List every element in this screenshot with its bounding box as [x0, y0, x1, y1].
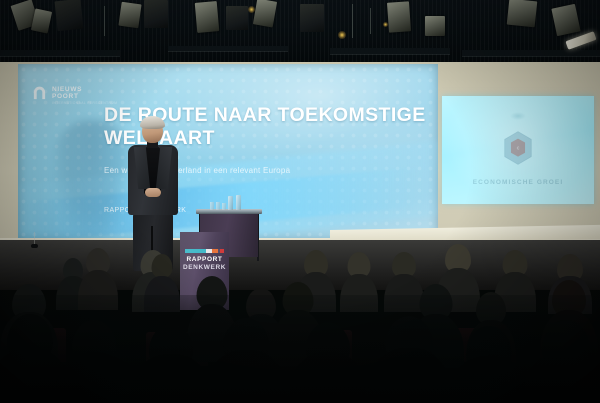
lectern: RAPPORT DENKWERK [180, 232, 229, 310]
head [72, 320, 116, 368]
hexagon-badge-icon: € [502, 130, 534, 166]
head [223, 318, 269, 368]
lectern-sheen [180, 232, 229, 310]
chair-back-3 [290, 330, 352, 364]
speaker-legs [133, 213, 173, 271]
audience-person-r3-6 [368, 316, 450, 403]
truss-bar-1 [0, 50, 120, 56]
amber-indicator-2 [338, 31, 346, 39]
svg-text:€: € [517, 146, 520, 151]
head [7, 314, 53, 364]
chair-back-1 [6, 328, 66, 362]
head [542, 320, 590, 372]
audience-person-r2-3 [236, 288, 286, 366]
truss-bar-2 [168, 46, 288, 51]
shoulders [236, 314, 286, 366]
shoulders [408, 314, 464, 368]
chair-back-4 [430, 328, 496, 362]
water-bottle-1 [228, 196, 233, 210]
rig-cable-2 [352, 4, 353, 38]
shoulders [0, 348, 70, 403]
audience-person-r2-4 [272, 282, 324, 366]
stage-light-12 [507, 0, 538, 27]
speaker-hands [145, 188, 161, 197]
shoulders [290, 352, 366, 403]
truss-bar-4 [462, 50, 600, 56]
head [149, 324, 193, 372]
audience-person-r2-5 [408, 284, 464, 368]
audience-person-r3-1 [0, 314, 70, 403]
speaker-leg-split [151, 226, 153, 271]
floor-mic-head [31, 244, 38, 248]
shoulders [466, 320, 516, 370]
nieuwspoort-logo: NIEUWS POORT INTERNATIONAAL PERSCENTRUM [32, 86, 117, 105]
stage-light-4 [118, 2, 141, 29]
audience-person-r3-2 [56, 320, 132, 403]
audience-person-r3-4 [206, 318, 286, 403]
stage-light-10 [387, 1, 411, 32]
truss-bar-3 [330, 48, 450, 54]
side-screen-caption: ECONOMISCHE GROEI [442, 179, 594, 186]
shoulders [272, 310, 324, 366]
head [476, 292, 506, 325]
audience-person-r3-3 [132, 324, 210, 403]
drinking-glass-1 [210, 202, 214, 210]
speaker-hair [140, 116, 165, 129]
stage-light-7 [226, 6, 248, 30]
stage-light-3 [55, 0, 84, 31]
audience-person-r3-5 [290, 322, 366, 403]
audience-person-r2-6 [466, 292, 516, 370]
shoulders [540, 310, 598, 368]
speaker-figure [122, 118, 184, 268]
stage-light-6 [195, 1, 220, 33]
shoulders [132, 354, 210, 403]
shoulders [524, 352, 600, 403]
head [467, 326, 512, 374]
nieuwspoort-wordmark: NIEUWS POORT INTERNATIONAAL PERSCENTRUM [52, 86, 117, 105]
rig-cable-3 [370, 8, 371, 34]
head [306, 322, 350, 370]
logo-word-line2: POORT [52, 94, 117, 101]
stage-floor [0, 240, 600, 290]
stage-light-5 [144, 0, 168, 28]
shoulders [206, 350, 286, 403]
shoulders [450, 356, 528, 403]
side-projection-screen: € ECONOMISCHE GROEI [442, 96, 594, 204]
audience-person-r3-8 [524, 320, 600, 403]
chair-back-2 [146, 332, 208, 366]
amber-indicator-3 [383, 22, 388, 27]
stage-light-11 [425, 16, 445, 36]
side-screen-topmark [510, 112, 526, 120]
drinking-glass-3 [222, 203, 226, 210]
head [246, 288, 276, 321]
ceiling-rig [0, 0, 600, 62]
shoulders [368, 348, 450, 403]
nieuwspoort-arch-icon [32, 86, 47, 101]
front-row-darkness [0, 295, 600, 403]
shoulders [56, 352, 132, 403]
shoulders [0, 312, 58, 364]
shoulders [186, 304, 238, 362]
audience-person-r3-7 [450, 326, 528, 403]
water-bottle-2 [236, 195, 241, 210]
stage-light-9 [300, 4, 324, 32]
rig-cable-1 [104, 6, 105, 36]
audience-person-r2-1 [0, 284, 58, 364]
head [385, 316, 433, 368]
drinking-glass-2 [216, 202, 220, 210]
conference-stage-photo: NIEUWS POORT INTERNATIONAAL PERSCENTRUM … [0, 0, 600, 403]
audience-person-r2-7 [540, 280, 598, 368]
amber-indicator-1 [248, 6, 255, 13]
